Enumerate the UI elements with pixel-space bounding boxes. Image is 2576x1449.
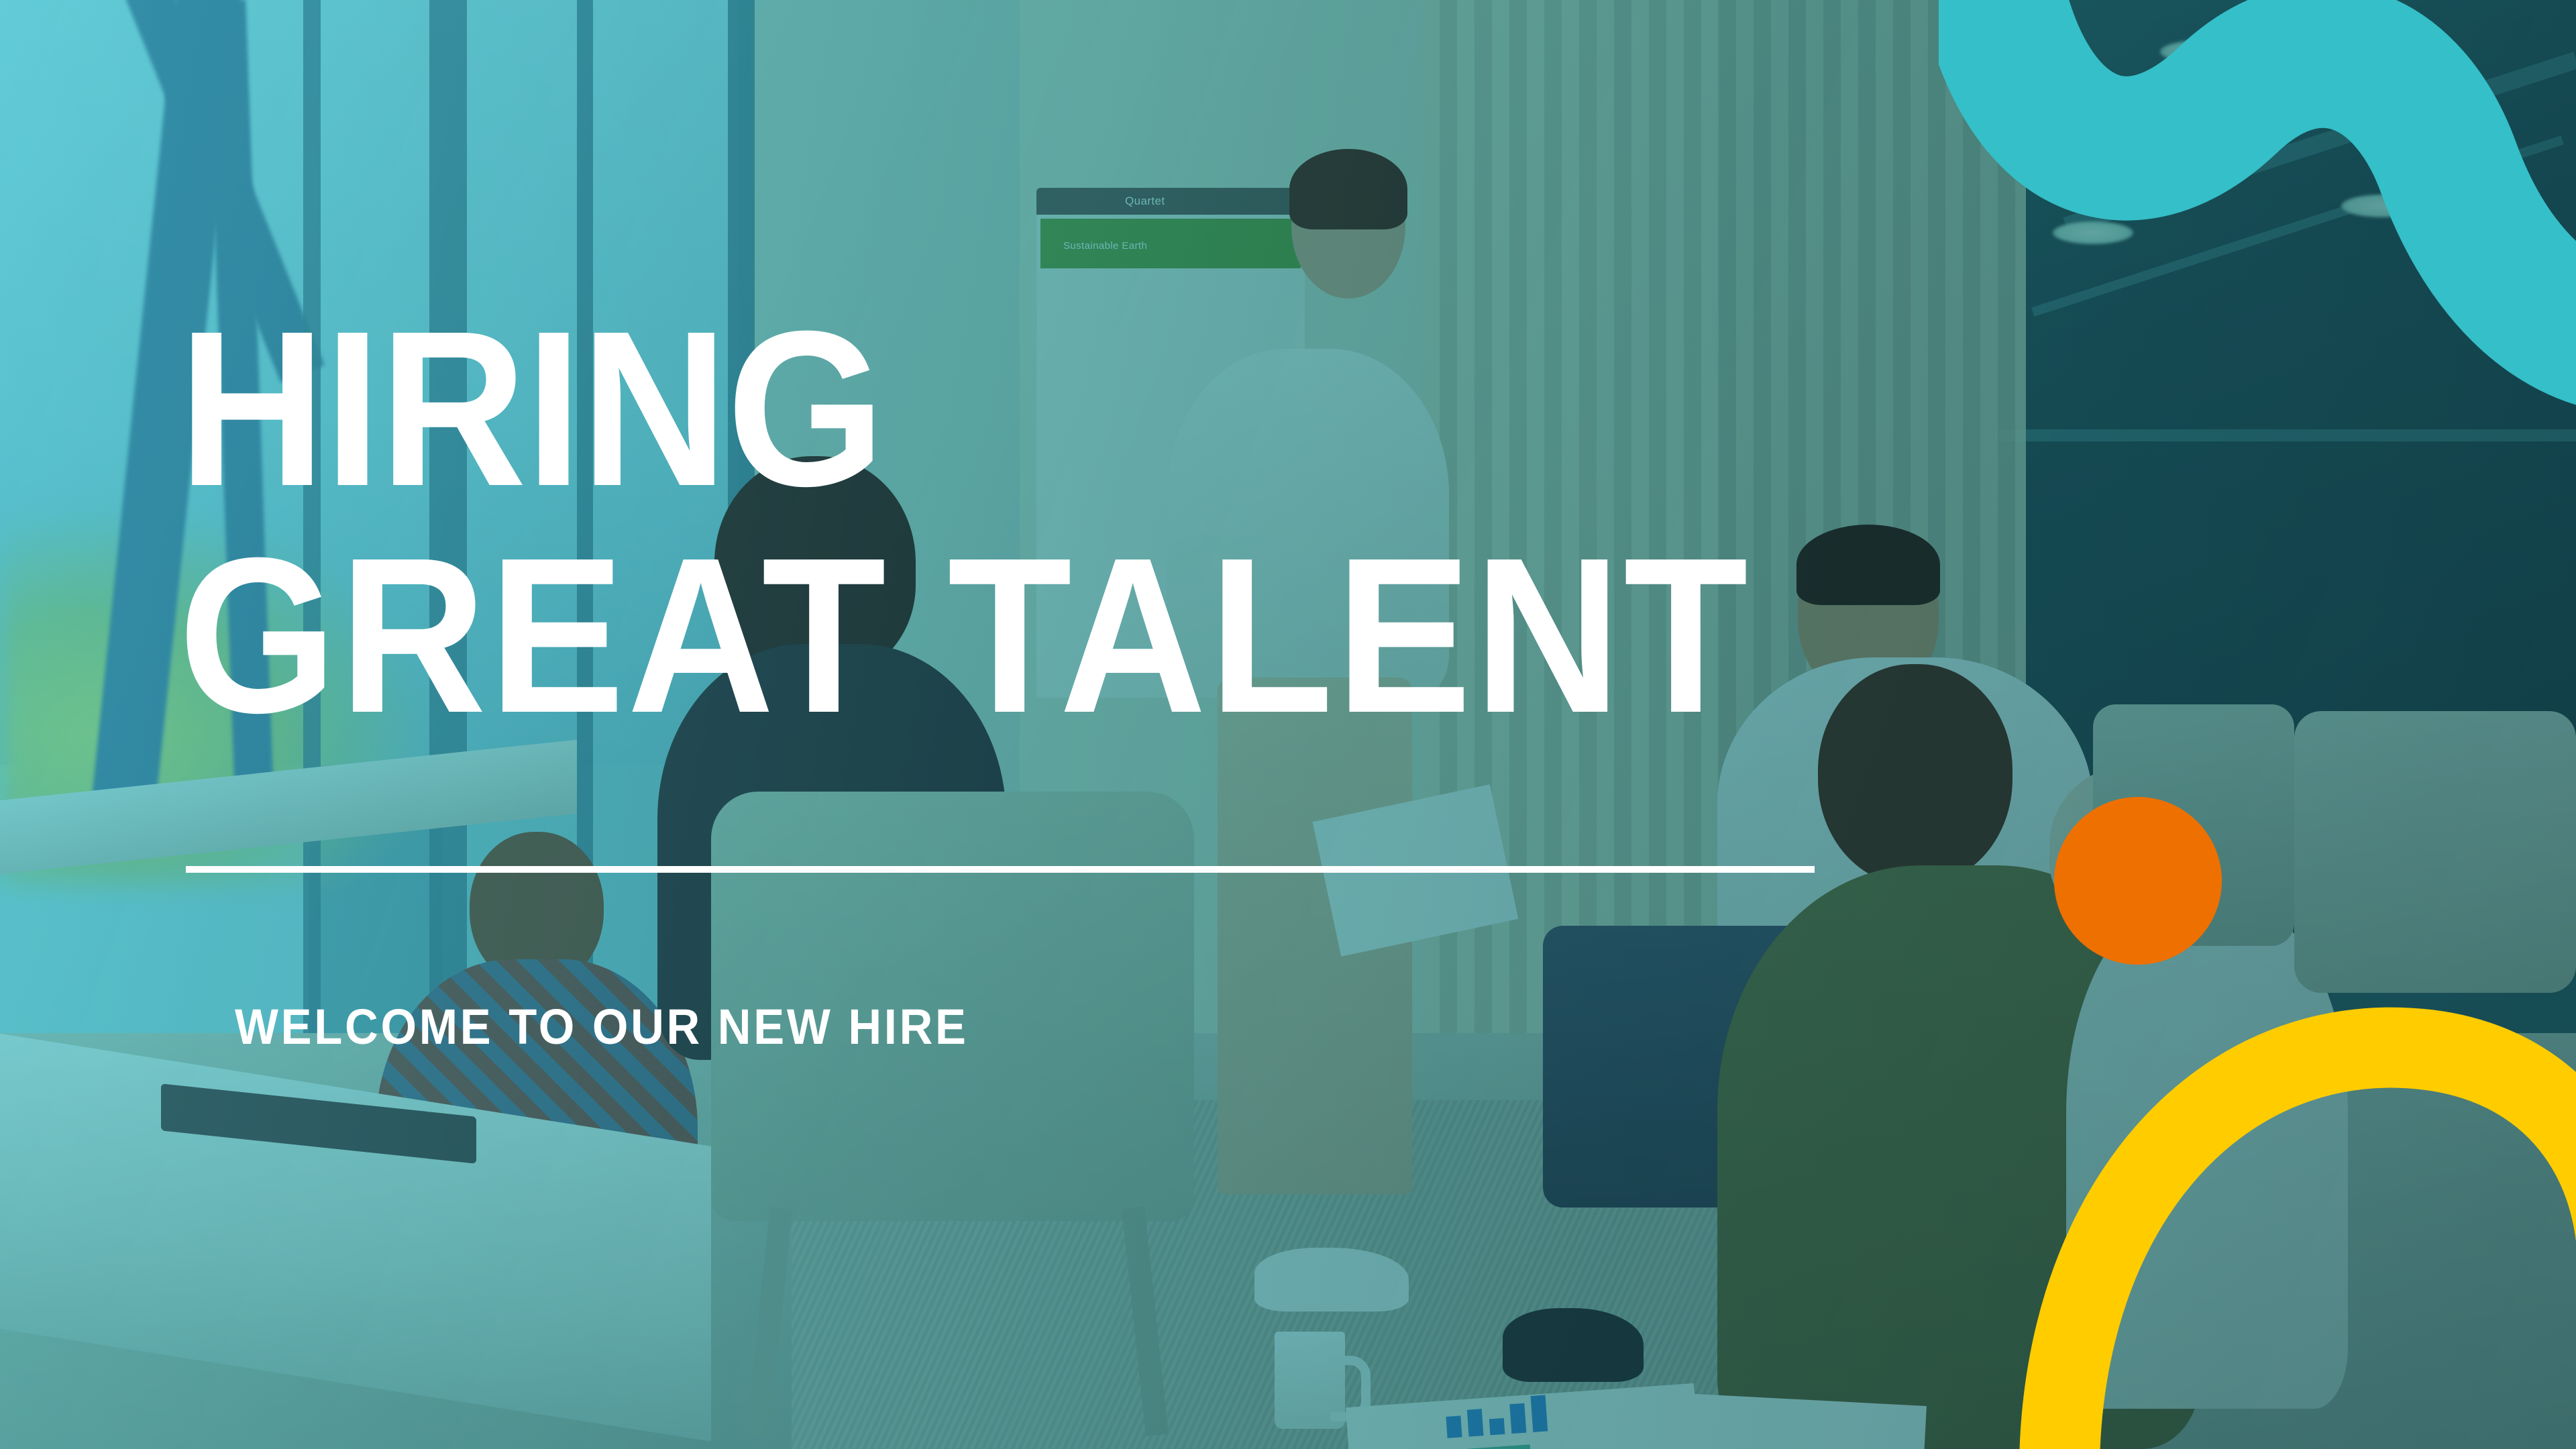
headline-line-2: GREAT TALENT bbox=[178, 549, 1750, 721]
subtitle-text: WELCOME TO OUR NEW HIRE bbox=[235, 998, 969, 1055]
headline-line-1: HIRING bbox=[178, 322, 884, 494]
banner-content: HIRING GREAT TALENT WELCOME TO OUR NEW H… bbox=[0, 0, 2576, 1449]
hiring-banner: Quartet Sustainable Earth bbox=[0, 0, 2576, 1449]
divider-rule bbox=[186, 866, 1815, 873]
